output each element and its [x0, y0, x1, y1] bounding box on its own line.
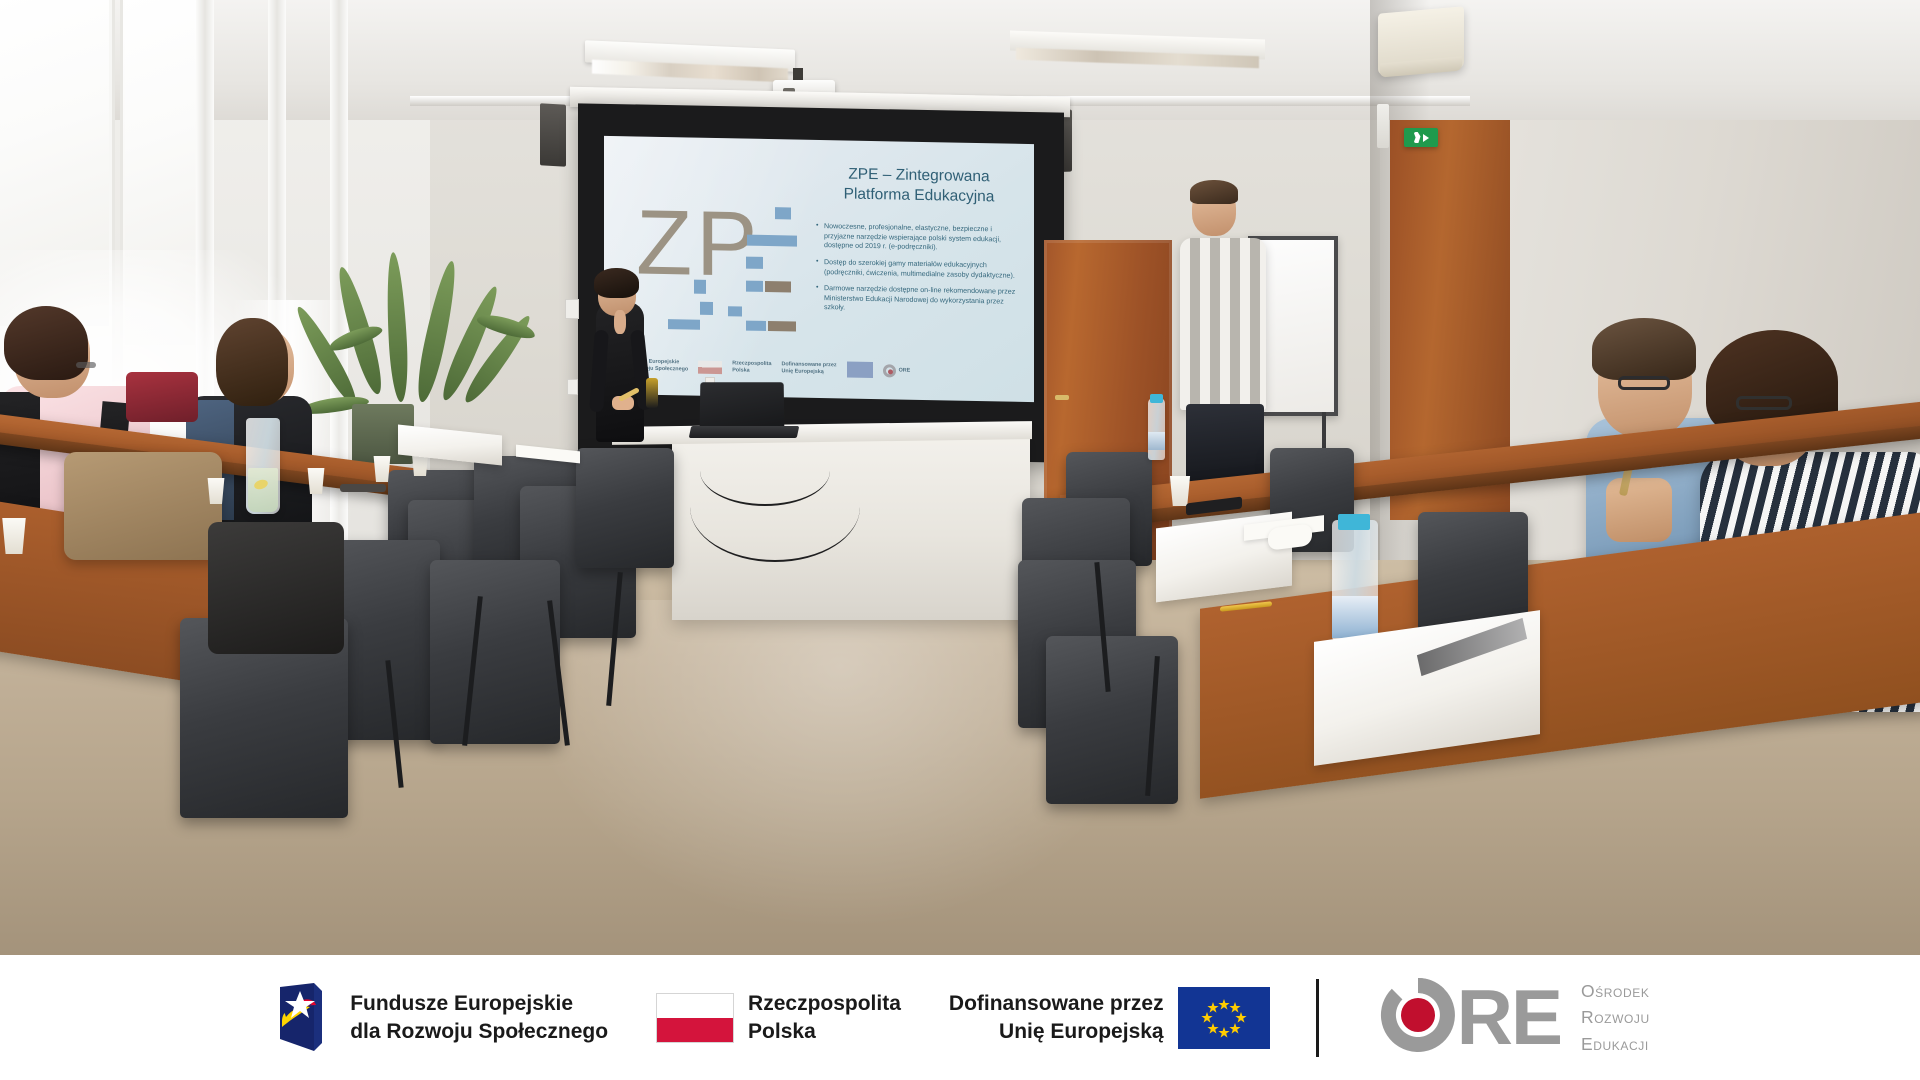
screenshot-root: Z P ZPE – Zintegrowana Platforma Edukacy…	[0, 0, 1920, 1080]
presenter-neck	[614, 310, 626, 334]
emergency-exit-sign	[1404, 128, 1438, 147]
wall-outlet[interactable]	[568, 380, 577, 394]
zpe-logo-square	[746, 281, 763, 292]
ore-ring-icon	[1375, 972, 1461, 1063]
eu-line-1: Dofinansowane przez	[949, 990, 1164, 1017]
emergency-lamp	[1377, 104, 1389, 148]
zpe-logo: Z P	[634, 186, 814, 329]
eyeglasses-on-table	[340, 484, 386, 492]
slide-footer-ore-label: ORE	[899, 367, 911, 374]
slide-bullet-list: Nowoczesne, profesjonalne, elastyczne, b…	[816, 222, 1024, 324]
logo-fundusze-europejskie: Fundusze Europejskie dla Rozwoju Społecz…	[270, 981, 608, 1055]
logo-divider	[1316, 979, 1319, 1057]
door-handle-icon[interactable]	[1055, 395, 1069, 400]
rp-line-2: Polska	[748, 1018, 901, 1045]
zpe-logo-square	[747, 235, 797, 247]
seated-left-back-hair	[216, 318, 288, 406]
slide-footer-republic: Rzeczpospolita Polska	[732, 361, 771, 375]
seated-right-man-hands	[1606, 478, 1672, 542]
zpe-logo-letter-z: Z	[636, 196, 692, 289]
slide-title: ZPE – Zintegrowana Platforma Edukacyjna	[816, 164, 1022, 207]
logo-rzeczpospolita-polska: Rzeczpospolita Polska	[656, 990, 901, 1045]
eu-flag-icon	[1178, 987, 1270, 1049]
bottle-cap	[1338, 514, 1370, 530]
slide-footer-eu-line-2: Unię Europejską	[781, 368, 836, 376]
slide-footer-ore-dot-icon	[888, 369, 893, 374]
seated-left-front-hair	[4, 306, 88, 380]
ore-sub-line-3: Edukacji	[1581, 1031, 1650, 1058]
fundusze-europejskie-icon	[270, 981, 336, 1055]
zpe-logo-square-brown	[768, 321, 796, 332]
zpe-logo-square	[775, 207, 791, 219]
seated-right-woman-glasses-icon	[1736, 396, 1792, 410]
bag-black	[208, 522, 344, 654]
seated-right-man-glasses-icon	[1618, 376, 1670, 390]
bottle-label	[1332, 596, 1378, 638]
poland-flag-icon	[656, 993, 734, 1043]
dofinansowane-ue-label: Dofinansowane przez Unię Europejską	[949, 990, 1164, 1045]
ore-sub-line-1: Ośrodek	[1581, 978, 1650, 1005]
slide-footer-eu-flag-icon	[847, 362, 873, 378]
laptop-screen	[700, 382, 785, 428]
laptop-keyboard	[689, 426, 800, 438]
rzeczpospolita-polska-label: Rzeczpospolita Polska	[748, 990, 901, 1045]
slide-footer-eu: Dofinansowane przez Unię Europejską	[781, 362, 836, 377]
water-bottle	[1148, 398, 1165, 460]
light-switch[interactable]	[566, 300, 578, 318]
standing-man-trousers	[1186, 404, 1264, 482]
chair[interactable]	[576, 448, 674, 568]
logo-dofinansowane-ue: Dofinansowane przez Unię Europejską	[949, 987, 1270, 1049]
logo-ore: RE Ośrodek Rozwoju Edukacji	[1375, 972, 1650, 1063]
ore-letters-re: RE	[1457, 985, 1561, 1051]
carafe-water	[248, 468, 278, 512]
zpe-logo-square	[746, 321, 766, 331]
bottle-label	[1148, 432, 1165, 450]
projected-slide: Z P ZPE – Zintegrowana Platforma Edukacy…	[604, 136, 1034, 402]
zpe-logo-square-brown	[765, 281, 791, 292]
zpe-logo-square	[668, 319, 700, 330]
fe-line-1: Fundusze Europejskie	[350, 990, 608, 1017]
ore-sub-line-2: Rozwoju	[1581, 1004, 1650, 1031]
running-man-icon	[1414, 132, 1421, 143]
standing-man-hair	[1190, 180, 1238, 204]
fundusze-europejskie-label: Fundusze Europejskie dla Rozwoju Społecz…	[350, 990, 608, 1045]
slide-footer-ore-ring-icon	[883, 364, 896, 377]
zpe-logo-square	[694, 280, 706, 294]
slide-bullet: Darmowe narzędzie dostępne on-line rekom…	[816, 284, 1024, 317]
slide-footer-republic-line-2: Polska	[732, 367, 771, 375]
ore-subtitle: Ośrodek Rozwoju Edukacji	[1581, 978, 1650, 1058]
seated-right-man-hair	[1592, 318, 1696, 380]
zpe-logo-square	[728, 306, 742, 316]
eu-line-2: Unię Europejską	[949, 1018, 1164, 1045]
slide-bullet: Nowoczesne, profesjonalne, elastyczne, b…	[816, 222, 1024, 255]
wall-speaker-left	[540, 103, 566, 166]
slide-title-line-2: Platforma Edukacyjna	[816, 183, 1022, 206]
bag-red	[126, 372, 198, 422]
slide-bullet: Dostęp do szerokiej gamy materiałów eduk…	[816, 258, 1024, 281]
fe-line-2: dla Rozwoju Społecznego	[350, 1018, 608, 1045]
conference-room-photo: Z P ZPE – Zintegrowana Platforma Edukacy…	[0, 0, 1920, 955]
standing-man-shirt	[1180, 238, 1266, 410]
slide-footer-poland-flag-icon	[698, 360, 722, 373]
presenter-lanyard-badge	[646, 378, 658, 408]
exit-arrow-icon	[1423, 134, 1429, 142]
cable	[690, 452, 860, 562]
presenter-hair	[594, 268, 639, 298]
handbag-tan	[64, 452, 222, 560]
ore-wordmark: RE	[1375, 972, 1561, 1063]
slide-footer-ore-logo: ORE	[883, 364, 911, 378]
rp-line-1: Rzeczpospolita	[748, 990, 901, 1017]
bottle-cap	[1150, 394, 1163, 403]
water-bottle-staropolska	[1332, 520, 1378, 640]
zpe-logo-square	[700, 302, 713, 315]
zpe-logo-square	[746, 257, 763, 269]
funding-logo-bar: Fundusze Europejskie dla Rozwoju Społecz…	[0, 955, 1920, 1080]
seated-left-front-glasses-icon	[76, 362, 96, 368]
chair[interactable]	[430, 560, 560, 744]
